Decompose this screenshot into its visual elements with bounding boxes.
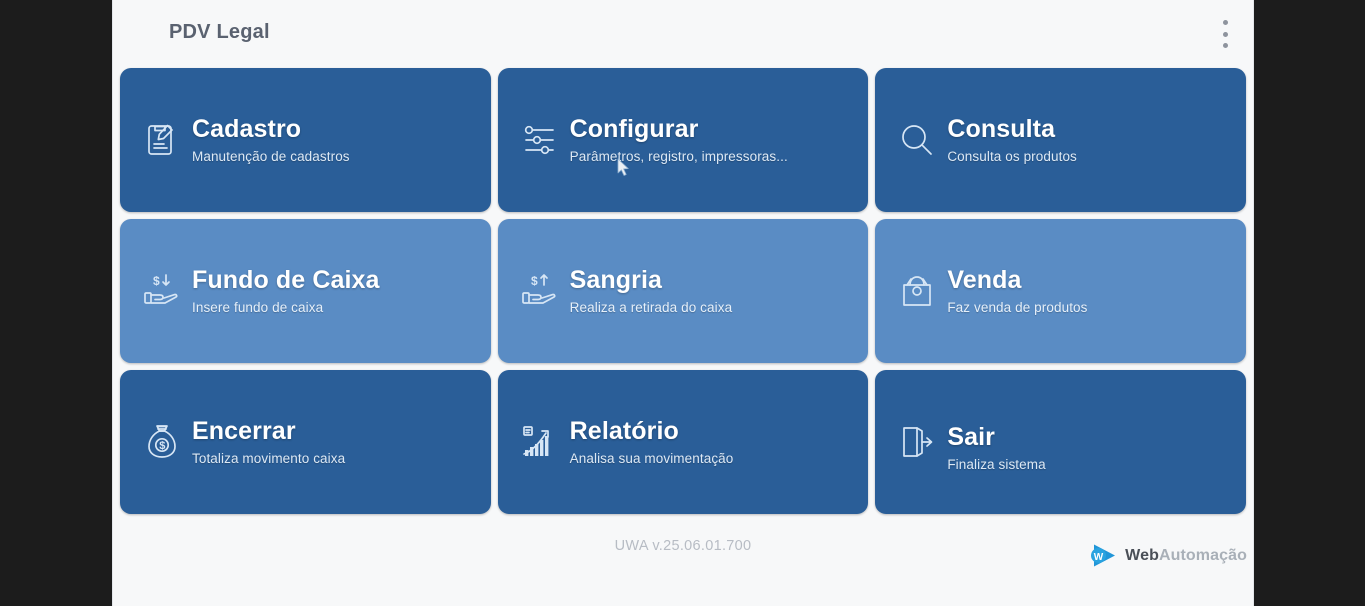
menu-card-text: Cadastro Manutenção de cadastros — [192, 116, 477, 164]
exit-door-icon — [894, 419, 940, 465]
menu-card-title: Consulta — [947, 116, 1232, 142]
brand-primary: Web — [1125, 547, 1159, 564]
page-title: PDV Legal — [169, 21, 270, 44]
menu-card-text: Sair Finaliza sistema — [947, 424, 1232, 472]
svg-text:$: $ — [159, 440, 165, 452]
menu-card-text: Consulta Consulta os produtos — [947, 116, 1232, 164]
menu-card-subtitle: Analisa sua movimentação — [570, 451, 855, 466]
menu-card-text: Sangria Realiza a retirada do caixa — [570, 267, 855, 315]
menu-card-title: Fundo de Caixa — [192, 267, 477, 293]
menu-card-subtitle: Faz venda de produtos — [947, 300, 1232, 315]
hand-money-up-icon: $ — [517, 268, 563, 314]
webautomacao-play-logo: W — [1088, 540, 1119, 571]
menu-card-subtitle: Parâmetros, registro, impressoras... — [570, 149, 855, 164]
menu-card-encerrar[interactable]: $ Encerrar Totaliza movimento caixa — [120, 370, 491, 514]
menu-card-subtitle: Realiza a retirada do caixa — [570, 300, 855, 315]
search-icon — [894, 117, 940, 163]
more-vertical-icon[interactable] — [1213, 18, 1237, 50]
menu-card-title: Sangria — [570, 267, 855, 293]
brand-secondary: Automação — [1159, 547, 1247, 564]
menu-card-venda[interactable]: Venda Faz venda de produtos — [875, 219, 1246, 363]
svg-text:W: W — [1094, 552, 1104, 563]
menu-card-title: Encerrar — [192, 418, 477, 444]
version-label: UWA v.25.06.01.700 — [113, 538, 1253, 554]
menu-card-title: Relatório — [570, 418, 855, 444]
menu-dot — [1223, 32, 1228, 37]
menu-grid: Cadastro Manutenção de cadastros Configu… — [120, 68, 1246, 514]
menu-card-text: Fundo de Caixa Insere fundo de caixa — [192, 267, 477, 315]
svg-text:$: $ — [531, 274, 538, 288]
sliders-icon — [517, 117, 563, 163]
menu-card-subtitle: Finaliza sistema — [947, 457, 1232, 472]
screen-root: PDV Legal Cadastr — [0, 0, 1365, 606]
app-bar: PDV Legal — [113, 0, 1253, 68]
menu-card-subtitle: Manutenção de cadastros — [192, 149, 477, 164]
clipboard-pen-icon — [139, 117, 185, 163]
hand-money-down-icon: $ — [139, 268, 185, 314]
brand-logo: W WebAutomação — [1088, 540, 1247, 571]
menu-card-relatorio[interactable]: Relatório Analisa sua movimentação — [498, 370, 869, 514]
menu-card-fundo-de-caixa[interactable]: $ Fundo de Caixa Insere fundo de caixa — [120, 219, 491, 363]
menu-card-sangria[interactable]: $ Sangria Realiza a retirada do caixa — [498, 219, 869, 363]
menu-card-text: Configurar Parâmetros, registro, impress… — [570, 116, 855, 164]
menu-card-title: Configurar — [570, 116, 855, 142]
menu-dot — [1223, 20, 1228, 25]
brand-text: WebAutomação — [1125, 547, 1247, 565]
menu-card-subtitle: Insere fundo de caixa — [192, 300, 477, 315]
menu-card-text: Venda Faz venda de produtos — [947, 267, 1232, 315]
menu-card-title: Sair — [947, 424, 1232, 450]
menu-card-subtitle: Consulta os produtos — [947, 149, 1232, 164]
svg-text:$: $ — [153, 274, 160, 288]
menu-card-sair[interactable]: Sair Finaliza sistema — [875, 370, 1246, 514]
menu-card-subtitle: Totaliza movimento caixa — [192, 451, 477, 466]
money-bag-icon: $ — [139, 419, 185, 465]
menu-card-title: Cadastro — [192, 116, 477, 142]
menu-card-text: Relatório Analisa sua movimentação — [570, 418, 855, 466]
app-viewport: PDV Legal Cadastr — [113, 0, 1253, 606]
menu-card-consulta[interactable]: Consulta Consulta os produtos — [875, 68, 1246, 212]
bar-chart-up-icon — [517, 419, 563, 465]
menu-card-cadastro[interactable]: Cadastro Manutenção de cadastros — [120, 68, 491, 212]
menu-card-title: Venda — [947, 267, 1232, 293]
menu-dot — [1223, 43, 1228, 48]
shopping-bag-icon — [894, 268, 940, 314]
menu-card-configurar[interactable]: Configurar Parâmetros, registro, impress… — [498, 68, 869, 212]
menu-card-text: Encerrar Totaliza movimento caixa — [192, 418, 477, 466]
